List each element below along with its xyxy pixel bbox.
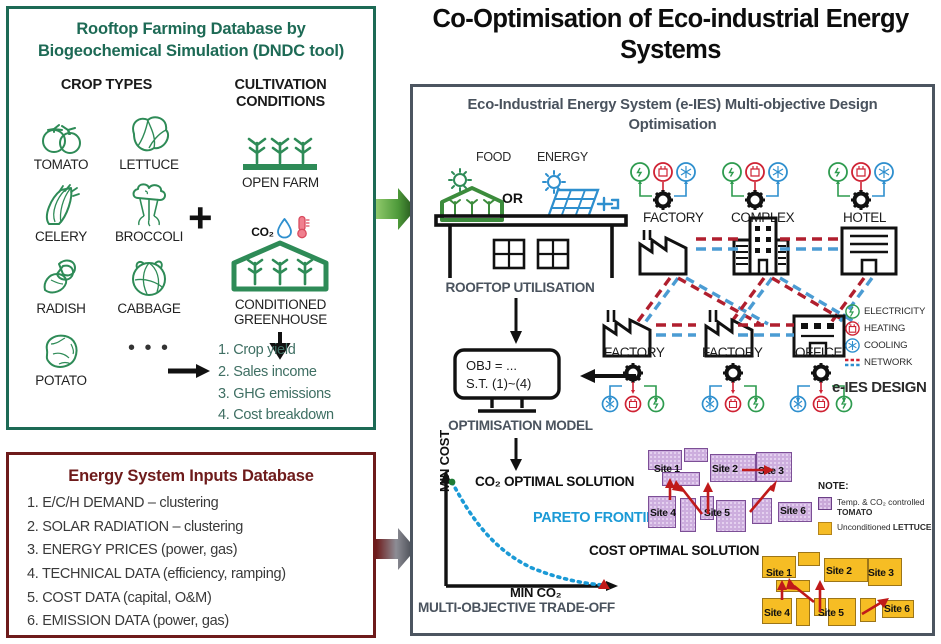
energy-inputs-title: Energy System Inputs Database <box>9 455 373 492</box>
building-icon <box>434 216 630 282</box>
note-text: Temp. & CO₂ controlled <box>837 497 925 507</box>
rooftop-to-model-arrow-icon <box>508 298 524 346</box>
crop-label: LETTUCE <box>105 157 193 172</box>
crop-types-heading: CROP TYPES <box>17 77 196 94</box>
cultivation-conditions-heading: CULTIVATION CONDITIONS <box>196 77 365 112</box>
site-flow-arrows-co2 <box>648 448 816 544</box>
monitor-icon: OBJ = ... S.T. (1)~(4) <box>452 348 576 418</box>
greenhouse-badges: CO₂ <box>196 213 365 239</box>
rooftop-illustration <box>432 164 632 280</box>
legend-label: ELECTRICITY <box>864 306 925 317</box>
note-row-tomato: Temp. & CO₂ controlled TOMATO <box>818 497 938 518</box>
crop-item-broccoli: BROCCOLI <box>105 180 193 244</box>
note-crop: LETTUCE <box>893 522 932 532</box>
site-map-cost-optimal: Site 1 Site 2 Site 3 Site 4 Site 5 Site … <box>762 552 922 632</box>
legend-label: COOLING <box>864 340 908 351</box>
rooftop-farming-title: Rooftop Farming Database by Biogeochemic… <box>9 9 373 63</box>
legend-row-cooling: COOLING <box>845 337 925 354</box>
cabbage-icon <box>105 252 193 300</box>
note-row-lettuce: Unconditioned LETTUCE <box>818 522 938 535</box>
radish-icon <box>17 252 105 300</box>
electricity-icon <box>845 304 860 319</box>
crop-types-column: CROP TYPES TOMATO <box>17 77 196 396</box>
output-item: 2. Sales income <box>218 362 334 384</box>
condition-label: OPEN FARM <box>196 175 365 191</box>
page-title: Co-Optimisation of Eco-industrial Energy… <box>404 4 937 66</box>
co2-badge-label: CO₂ <box>251 225 273 239</box>
crop-label: CABBAGE <box>105 301 193 316</box>
crop-label: BROCCOLI <box>105 229 193 244</box>
energy-unit-triad-factory-2-icon <box>600 362 666 412</box>
co2-optimal-solution-label: CO₂ OPTIMAL SOLUTION <box>475 474 634 489</box>
model-to-pareto-arrow-icon <box>508 438 524 472</box>
pareto-y-axis-label: MIN COST <box>437 430 452 492</box>
eies-panel-heading: Eco-Industrial Energy System (e-IES) Mul… <box>413 87 932 136</box>
list-item: 4. TECHNICAL DATA (efficiency, ramping) <box>27 563 373 587</box>
note-title: NOTE: <box>818 481 938 492</box>
pareto-frontier-label: PARETO FRONTIER <box>533 510 666 527</box>
energy-unit-triad-hotel-icon <box>828 162 894 212</box>
lettuce-icon <box>105 108 193 156</box>
building-label-factory-2: FACTORY <box>604 345 664 360</box>
building-label-office: OFFICE <box>795 345 842 360</box>
eies-design-label: e-IES DESIGN <box>832 379 926 396</box>
gear-icon <box>811 363 831 383</box>
note-crop: TOMATO <box>837 507 872 517</box>
factory-building-icon <box>634 226 700 278</box>
farming-outputs-list: 1. Crop yield 2. Sales income 3. GHG emi… <box>218 340 334 427</box>
optimisation-model-group: OBJ = ... S.T. (1)~(4) <box>452 348 576 418</box>
condition-open-farm: OPEN FARM <box>196 131 365 191</box>
obj-line-1: OBJ = ... <box>466 358 517 373</box>
energy-unit-triad-factory-icon <box>630 162 696 212</box>
network-links-top <box>694 234 844 256</box>
cost-optimal-solution-label: COST OPTIMAL SOLUTION <box>589 543 759 558</box>
crop-item-potato: POTATO <box>17 324 105 388</box>
cooling-icon <box>845 338 860 353</box>
gear-icon <box>653 190 673 210</box>
potato-icon <box>17 324 105 372</box>
crop-label: TOMATO <box>17 157 105 172</box>
pareto-x-axis-label: MIN CO₂ <box>510 585 561 600</box>
food-label: FOOD <box>476 150 511 164</box>
network-legend: ELECTRICITY HEATING COOLING NETWORK <box>845 303 925 371</box>
crops-to-outputs-arrow-icon <box>168 360 212 382</box>
gear-icon <box>745 190 765 210</box>
note-legend: NOTE: Temp. & CO₂ controlled TOMATO Unco… <box>818 481 938 539</box>
celery-icon <box>17 180 105 228</box>
crop-item-tomato: TOMATO <box>17 108 105 172</box>
hotel-building-icon <box>838 222 902 278</box>
crop-label: RADISH <box>17 301 105 316</box>
network-dashed-icon <box>845 355 860 370</box>
gear-icon <box>851 190 871 210</box>
crop-label: POTATO <box>17 373 105 388</box>
energy-unit-triad-factory-3-icon <box>700 362 766 412</box>
open-farm-icon <box>196 131 365 175</box>
obj-line-2: S.T. (1)~(4) <box>466 376 531 391</box>
thermometer-icon <box>295 215 310 239</box>
rooftop-utilisation-group: FOOD ENERGY <box>432 150 632 280</box>
list-item: 1. E/C/H DEMAND – clustering <box>27 492 373 516</box>
building-label-factory-1: FACTORY <box>643 210 703 225</box>
network-links-bottom <box>654 320 796 342</box>
water-drop-icon <box>276 217 293 239</box>
condition-greenhouse: CO₂ <box>196 213 365 358</box>
note-text: Unconditioned <box>837 522 893 532</box>
energy-system-inputs-panel: Energy System Inputs Database 1. E/C/H D… <box>6 452 376 638</box>
list-item: 6. EMISSION DATA (power, gas) <box>27 610 373 634</box>
greenhouse-icon <box>196 239 365 295</box>
list-item: 2. SOLAR RADIATION – clustering <box>27 516 373 540</box>
crop-item-radish: RADISH <box>17 252 105 316</box>
gear-icon <box>723 363 743 383</box>
legend-label: NETWORK <box>864 357 912 368</box>
list-item: 5. COST DATA (capital, O&M) <box>27 587 373 611</box>
multi-objective-tradeoff-caption: MULTI-OBJECTIVE TRADE-OFF <box>418 600 615 615</box>
crop-item-cabbage: CABBAGE <box>105 252 193 316</box>
heating-icon <box>845 321 860 336</box>
energy-inputs-list: 1. E/C/H DEMAND – clustering 2. SOLAR RA… <box>9 492 373 634</box>
or-label: OR <box>502 190 523 206</box>
output-item: 1. Crop yield <box>218 340 334 362</box>
legend-row-heating: HEATING <box>845 320 925 337</box>
plus-operator: + <box>188 197 213 239</box>
site-map-co2-optimal: Site 1 Site 2 Site 3 Site 4 Site 5 Site … <box>648 448 816 544</box>
site-flow-arrows-cost <box>762 552 922 632</box>
crop-grid: TOMATO LETTUCE <box>17 94 196 396</box>
legend-row-network: NETWORK <box>845 354 925 371</box>
list-item: 3. ENERGY PRICES (power, gas) <box>27 539 373 563</box>
food-energy-labels: FOOD ENERGY <box>432 150 632 164</box>
gear-icon <box>623 363 643 383</box>
crop-item-lettuce: LETTUCE <box>105 108 193 172</box>
building-label-factory-3: FACTORY <box>702 345 762 360</box>
output-item: 4. Cost breakdown <box>218 405 334 427</box>
energy-unit-triad-complex-icon <box>722 162 788 212</box>
output-item: 3. GHG emissions <box>218 384 334 406</box>
broccoli-icon <box>105 180 193 228</box>
legend-label: HEATING <box>864 323 905 334</box>
crop-label: CELERY <box>17 229 105 244</box>
energy-label: ENERGY <box>537 150 588 164</box>
crop-item-celery: CELERY <box>17 180 105 244</box>
legend-row-electricity: ELECTRICITY <box>845 303 925 320</box>
yellow-swatch-icon <box>818 522 832 535</box>
rooftop-utilisation-caption: ROOFTOP UTILISATION <box>420 280 620 295</box>
condition-label: CONDITIONED GREENHOUSE <box>196 297 365 328</box>
purple-swatch-icon <box>818 497 832 510</box>
tomato-icon <box>17 108 105 156</box>
